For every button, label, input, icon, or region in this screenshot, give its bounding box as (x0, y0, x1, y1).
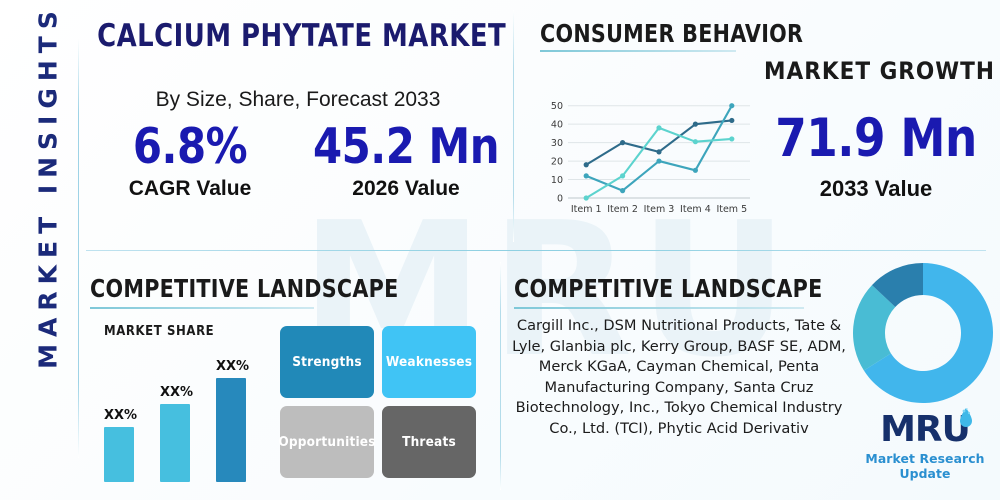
water-drop-icon (958, 408, 974, 428)
x-axis-tick-label: Item 5 (716, 204, 747, 215)
mru-logo: MRU Market Research Update (852, 410, 998, 481)
line-data-point (656, 158, 661, 163)
x-axis-tick-label: Item 1 (571, 204, 602, 215)
line-data-point (656, 125, 661, 130)
logo-wordmark: MRU (880, 410, 970, 450)
stat-2026: 45.2 Mn 2026 Value (298, 122, 514, 201)
logo-tagline: Market Research Update (852, 451, 998, 481)
bar-value-label: XX% (216, 359, 246, 374)
consumer-behavior-panel: CONSUMER BEHAVIOR 01020304050Item 1Item … (514, 0, 1000, 250)
line-data-point (620, 140, 625, 145)
line-data-point (620, 188, 625, 193)
line-data-point (729, 136, 734, 141)
line-data-point (656, 149, 661, 154)
competitive-donut-chart (848, 258, 998, 408)
market-growth-label: 2033 Value (752, 176, 1000, 202)
bar-column: XX% (104, 408, 134, 482)
bar-value-label: XX% (160, 385, 190, 400)
market-insights-label: MARKET INSIGHTS (34, 0, 63, 387)
line-data-point (584, 162, 589, 167)
competitive-landscape-right-panel: COMPETITIVE LANDSCAPE Cargill Inc., DSM … (500, 250, 1000, 500)
logo-text: MRU (880, 409, 970, 450)
line-data-point (620, 173, 625, 178)
bar-rect (160, 404, 190, 482)
page-title: CALCIUM PHYTATE MARKET (97, 18, 499, 54)
competitive-landscape-right-heading: COMPETITIVE LANDSCAPE (514, 274, 823, 303)
bar-column: XX% (160, 385, 190, 482)
y-axis-tick-label: 50 (551, 101, 563, 112)
line-series-2 (586, 106, 732, 191)
donut-chart-svg (848, 258, 998, 408)
competitive-landscape-left-panel: COMPETITIVE LANDSCAPE MARKET SHARE XX%XX… (82, 250, 500, 500)
infographic-root: MRU MARKET INSIGHTS CALCIUM PHYTATE MARK… (0, 0, 1000, 500)
x-axis-tick-label: Item 4 (680, 204, 711, 215)
stat-cagr-value: 6.8% (87, 122, 292, 173)
rail-divider-line (78, 38, 79, 458)
stat-2026-label: 2026 Value (298, 177, 514, 201)
y-axis-tick-label: 0 (557, 193, 563, 204)
swot-cell-opportunities[interactable]: Opportunities (280, 406, 374, 478)
market-growth-heading: MARKET GROWTH (764, 57, 995, 85)
stat-cagr: 6.8% CAGR Value (82, 122, 298, 201)
y-axis-tick-label: 10 (551, 175, 563, 186)
left-rail: MARKET INSIGHTS (0, 0, 82, 500)
line-data-point (693, 168, 698, 173)
line-data-point (693, 122, 698, 127)
x-axis-tick-label: Item 2 (607, 204, 638, 215)
consumer-behavior-underline (540, 50, 736, 52)
line-data-point (584, 195, 589, 200)
competitive-landscape-right-underline (514, 307, 804, 309)
market-growth-value: 71.9 Mn (758, 108, 994, 169)
swot-cell-threats[interactable]: Threats (382, 406, 476, 478)
company-list: Cargill Inc., DSM Nutritional Products, … (510, 316, 848, 440)
line-data-point (729, 118, 734, 123)
y-axis-tick-label: 40 (551, 120, 563, 131)
header-panel: CALCIUM PHYTATE MARKET By Size, Share, F… (82, 0, 514, 250)
bar-value-label: XX% (104, 408, 134, 423)
bar-rect (104, 427, 134, 482)
line-data-point (693, 139, 698, 144)
swot-matrix: StrengthsWeaknessesOpportunitiesThreats (280, 326, 476, 478)
consumer-behavior-line-chart: 01020304050Item 1Item 2Item 3Item 4Item … (542, 96, 754, 218)
y-axis-tick-label: 30 (551, 138, 563, 149)
stat-2026-value: 45.2 Mn (303, 122, 508, 173)
page-subtitle: By Size, Share, Forecast 2033 (82, 88, 514, 112)
y-axis-tick-label: 20 (551, 156, 563, 167)
line-data-point (729, 103, 734, 108)
line-chart-svg: 01020304050Item 1Item 2Item 3Item 4Item … (542, 96, 754, 218)
stat-cagr-label: CAGR Value (82, 177, 298, 201)
competitive-landscape-left-heading: COMPETITIVE LANDSCAPE (90, 274, 399, 303)
bar-rect (216, 378, 246, 482)
consumer-behavior-heading: CONSUMER BEHAVIOR (540, 19, 803, 48)
market-share-bar-chart: XX%XX%XX% (96, 330, 274, 482)
swot-cell-strengths[interactable]: Strengths (280, 326, 374, 398)
competitive-landscape-left-underline (90, 307, 314, 309)
x-axis-tick-label: Item 3 (644, 204, 675, 215)
swot-cell-weaknesses[interactable]: Weaknesses (382, 326, 476, 398)
bar-column: XX% (216, 359, 246, 482)
line-data-point (584, 173, 589, 178)
